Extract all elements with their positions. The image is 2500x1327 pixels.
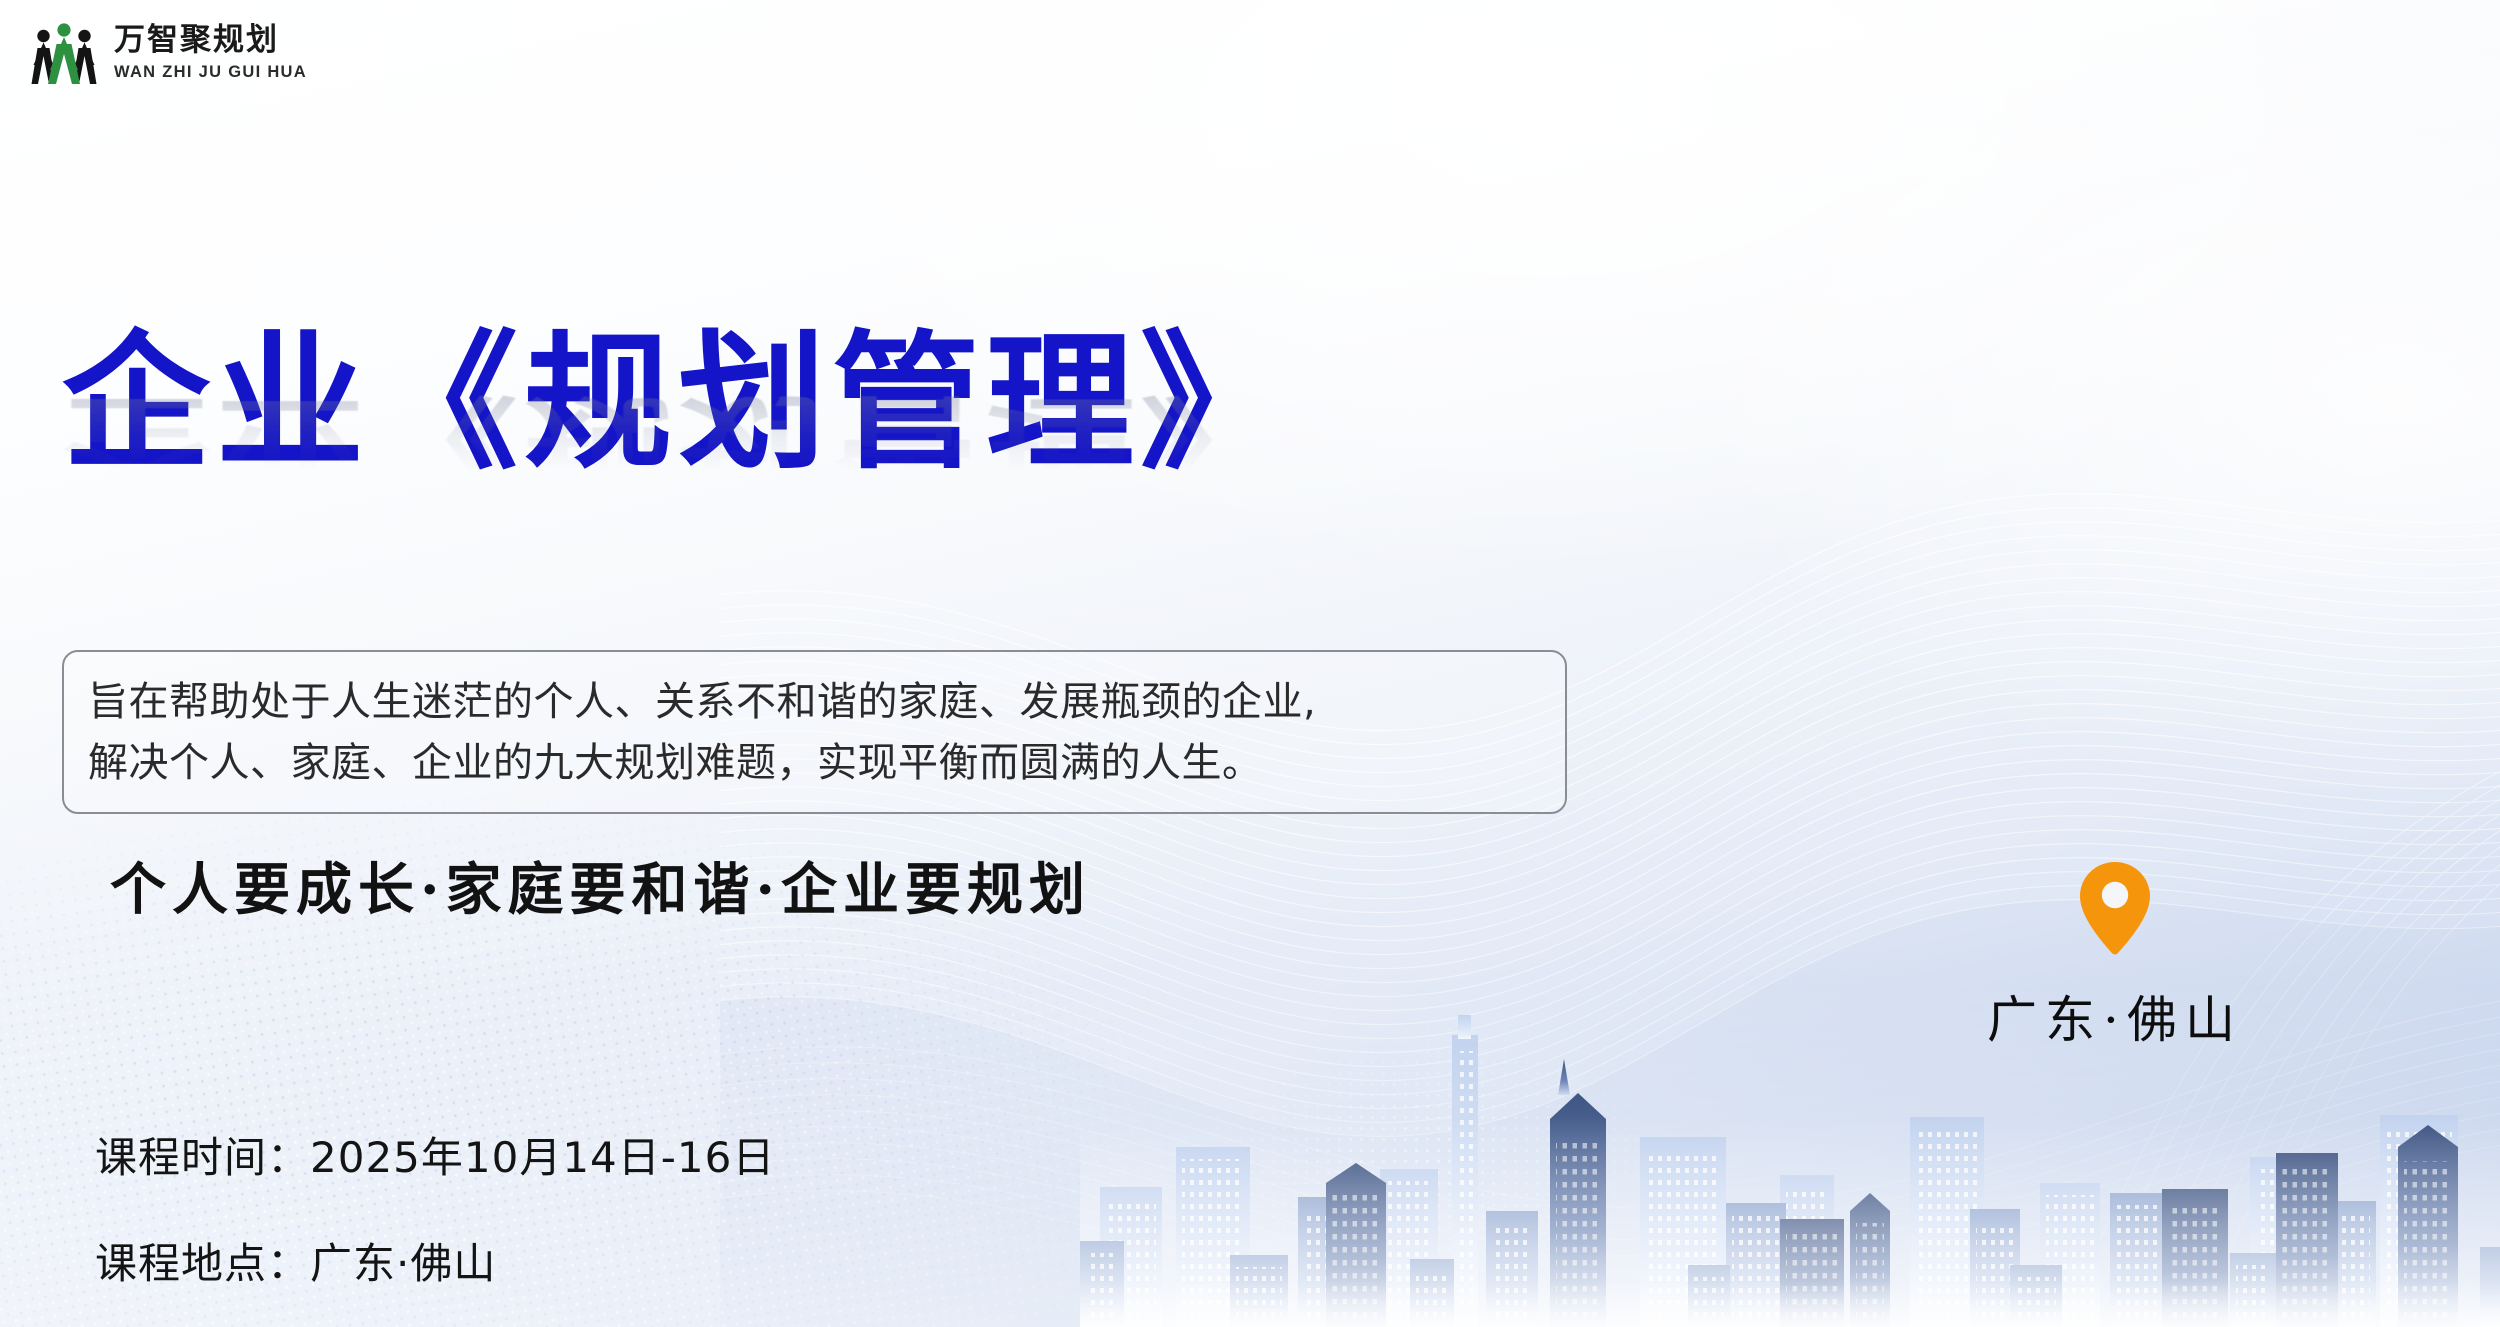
city-skyline-silhouette [1080, 997, 2500, 1327]
course-place: 课程地点：广东·佛山 [95, 1230, 775, 1291]
description-line-2: 解决个人、家庭、企业的九大规划难题，实现平衡而圆满的人生。 [88, 733, 1543, 794]
location-block: 广东·佛山 [1950, 860, 2280, 1052]
promo-banner: 万智聚规划 WAN ZHI JU GUI HUA 企业《规划管理》 企业《规划管… [0, 0, 2500, 1327]
logo-name-pinyin: WAN ZHI JU GUI HUA [114, 64, 307, 81]
description-box: 旨在帮助处于人生迷茫的个人、关系不和谐的家庭、发展瓶颈的企业, 解决个人、家庭、… [62, 650, 1567, 814]
logo-name-cn: 万智聚规划 [114, 25, 307, 56]
hero-title-block: 企业《规划管理》 企业《规划管理》 [62, 330, 1622, 630]
location-label: 广东·佛山 [1950, 980, 2280, 1052]
halftone-dot-field-secondary [1180, 980, 1800, 1327]
logo-text-block: 万智聚规划 WAN ZHI JU GUI HUA [114, 25, 307, 81]
brand-logo: 万智聚规划 WAN ZHI JU GUI HUA [28, 18, 307, 88]
map-pin-icon [2076, 860, 2154, 956]
tagline: 个人要成长·家庭要和谐·企业要规划 [110, 845, 1091, 926]
three-people-logo-icon [28, 18, 100, 88]
course-info-block: 课程时间：2025年10月14日-16日 课程地点：广东·佛山 [95, 1124, 775, 1291]
title-reflection: 企业《规划管理》 [62, 390, 1622, 482]
description-line-1: 旨在帮助处于人生迷茫的个人、关系不和谐的家庭、发展瓶颈的企业, [88, 672, 1543, 733]
course-time: 课程时间：2025年10月14日-16日 [95, 1124, 775, 1185]
